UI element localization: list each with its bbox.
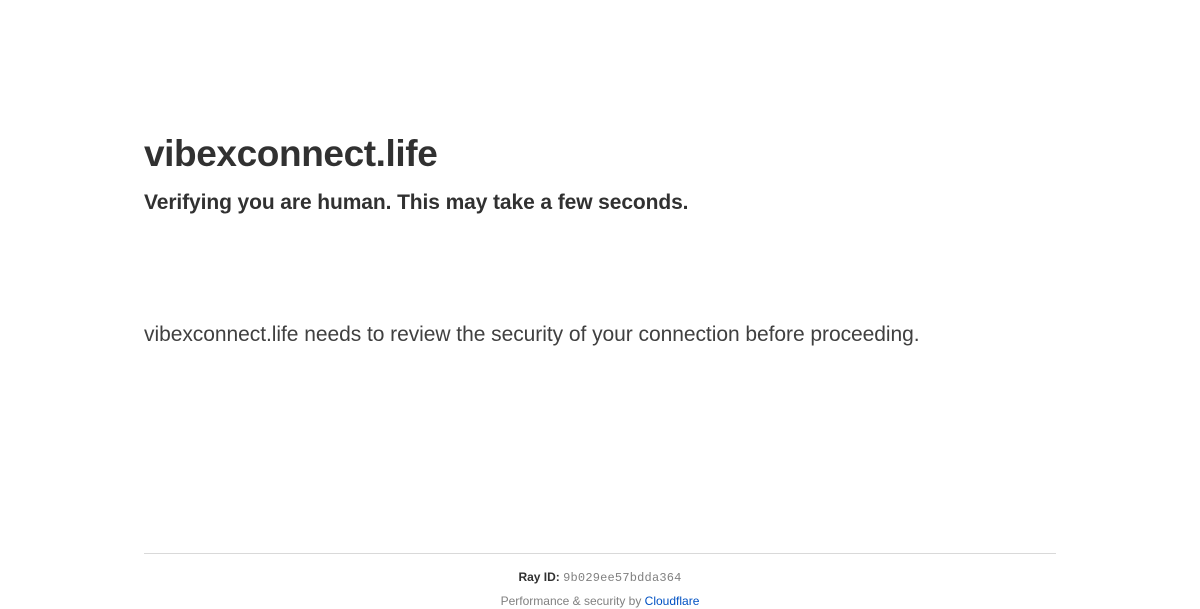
ray-id: Ray ID: 9b029ee57bdda364: [144, 570, 1056, 586]
ray-id-value: 9b029ee57bdda364: [563, 571, 681, 585]
challenge-page: vibexconnect.life Verifying you are huma…: [0, 0, 1200, 600]
cloudflare-link[interactable]: Cloudflare: [645, 594, 700, 608]
verification-status-text: Verifying you are human. This may take a…: [144, 189, 1056, 217]
challenge-content: vibexconnect.life Verifying you are huma…: [144, 0, 1056, 353]
page-footer: Ray ID: 9b029ee57bdda364 Performance & s…: [144, 553, 1056, 609]
ray-id-label: Ray ID:: [518, 570, 559, 584]
footer-credit: Performance & security by Cloudflare: [144, 594, 1056, 609]
challenge-widget-slot[interactable]: [144, 235, 444, 317]
challenge-main: vibexconnect.life Verifying you are huma…: [144, 0, 1056, 353]
page-title: vibexconnect.life: [144, 131, 1056, 177]
footer-credit-text: Performance & security by: [501, 594, 642, 608]
challenge-description: vibexconnect.life needs to review the se…: [144, 317, 944, 353]
